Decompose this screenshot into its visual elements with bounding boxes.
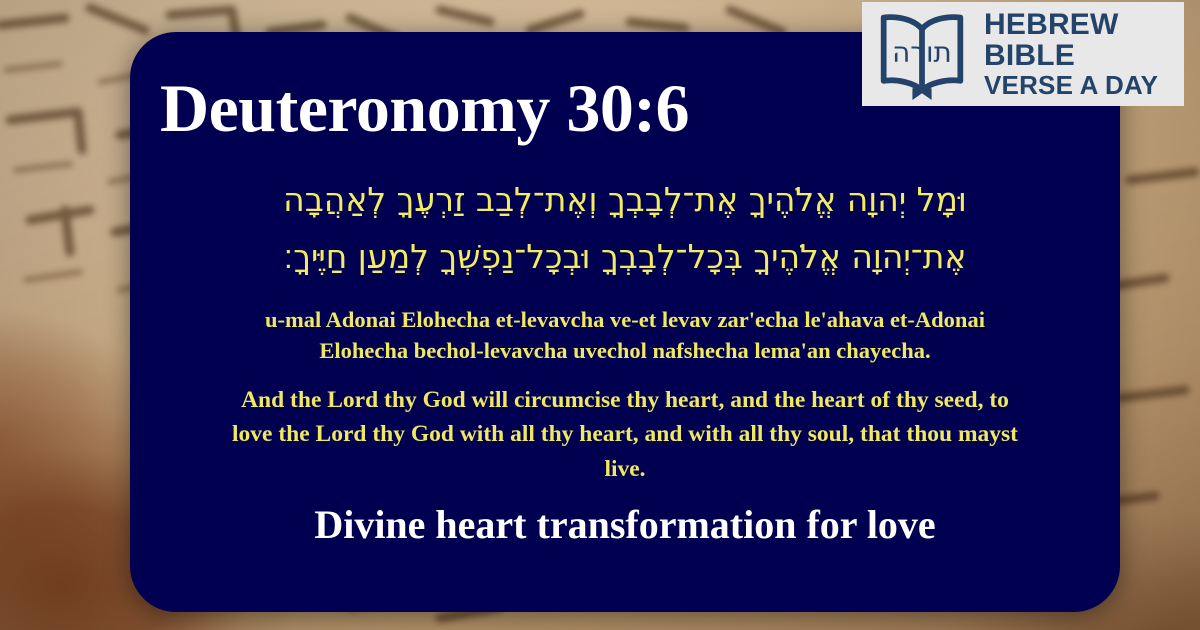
- hebrew-verse-line-2: אֶת־יְהוָה אֱלֹהֶיךָ בְּכָל־לְבָבְךָ וּב…: [195, 229, 1055, 286]
- brand-line-bible: BIBLE: [984, 40, 1158, 71]
- verse-tagline: Divine heart transformation for love: [314, 504, 935, 546]
- hebrew-verse-text: וּמָל יְהוָה אֱלֹהֶיךָ אֶת־לְבָבְךָ וְאֶ…: [195, 172, 1055, 286]
- verse-image-canvas: Deuteronomy 30:6 וּמָל יְהוָה אֱלֹהֶיךָ …: [0, 0, 1200, 630]
- transliteration-text: u-mal Adonai Elohecha et-levavcha ve-et …: [230, 304, 1020, 368]
- verse-card: Deuteronomy 30:6 וּמָל יְהוָה אֱלֹהֶיךָ …: [130, 32, 1120, 612]
- brand-logo-badge[interactable]: תורה HEBREW BIBLE VERSE A DAY: [862, 2, 1184, 106]
- english-translation-text: And the Lord thy God will circumcise thy…: [225, 383, 1025, 485]
- brand-name-text: HEBREW BIBLE VERSE A DAY: [984, 9, 1158, 98]
- svg-text:תורה: תורה: [892, 36, 952, 69]
- verse-reference-title: Deuteronomy 30:6: [160, 74, 689, 142]
- brand-line-hebrew: HEBREW: [984, 9, 1158, 40]
- open-book-torah-icon: תורה: [874, 8, 970, 100]
- hebrew-verse-line-1: וּמָל יְהוָה אֱלֹהֶיךָ אֶת־לְבָבְךָ וְאֶ…: [195, 172, 1055, 229]
- brand-line-verse-a-day: VERSE A DAY: [984, 72, 1158, 99]
